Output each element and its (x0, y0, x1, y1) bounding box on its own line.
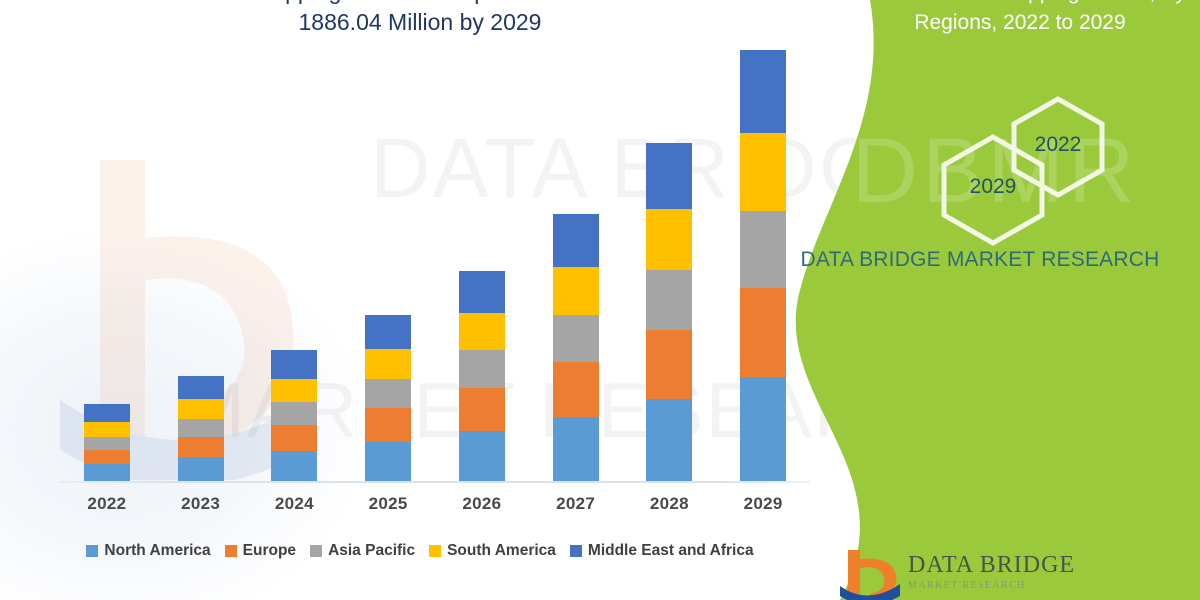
bar-segment[interactable] (178, 419, 224, 437)
bar-segment[interactable] (459, 431, 505, 481)
legend-label: North America (104, 542, 210, 560)
page-title: Global Cardiac Mapping Market is Expecte… (70, 0, 770, 38)
bar-segment[interactable] (365, 408, 411, 441)
bar-segment[interactable] (365, 379, 411, 408)
bar-segment[interactable] (178, 437, 224, 458)
stacked-bar[interactable] (553, 214, 599, 481)
legend-swatch (570, 545, 582, 557)
logo-text: DATA BRIDGE MARKET RESEARCH (908, 552, 1075, 591)
x-axis-labels: 20222023202420252026202720282029 (60, 487, 810, 521)
bar-segment[interactable] (646, 399, 692, 481)
stacked-bar[interactable] (459, 271, 505, 481)
bar-segment[interactable] (271, 451, 317, 481)
legend-label: Europe (243, 542, 296, 560)
green-panel-content: DBMR Global Cardiac Mapping Market, By R… (760, 0, 1200, 600)
stacked-bar-chart: 20222023202420252026202720282029 (40, 90, 820, 490)
bar-segment[interactable] (178, 457, 224, 481)
bar-segment[interactable] (646, 270, 692, 330)
bar-segment[interactable] (84, 422, 130, 437)
bar-segment[interactable] (646, 330, 692, 400)
bar-segment[interactable] (646, 209, 692, 270)
stacked-bar[interactable] (646, 143, 692, 481)
bar-segment[interactable] (553, 214, 599, 267)
bar-segment[interactable] (178, 376, 224, 400)
x-axis-tick-label: 2027 (536, 494, 616, 514)
hexagon-2022-label: 2022 (1008, 133, 1108, 157)
bar-column (629, 90, 709, 481)
bar-segment[interactable] (178, 399, 224, 419)
bar-column (348, 90, 428, 481)
bar-segment[interactable] (459, 388, 505, 431)
bar-segment[interactable] (271, 350, 317, 378)
legend-swatch (86, 545, 98, 557)
x-axis-tick-label: 2023 (161, 494, 241, 514)
bar-segment[interactable] (271, 402, 317, 425)
plot-area (60, 90, 810, 483)
bar-segment[interactable] (84, 404, 130, 422)
bar-segment[interactable] (271, 379, 317, 403)
panel-title: Global Cardiac Mapping Market, By Region… (850, 0, 1190, 38)
legend-item[interactable]: Middle East and Africa (570, 542, 754, 560)
brand-name: DATA BRIDGE MARKET RESEARCH (800, 245, 1160, 275)
data-bridge-logo: DATA BRIDGE MARKET RESEARCH (840, 550, 1190, 600)
bar-column (254, 90, 334, 481)
bar-segment[interactable] (84, 450, 130, 465)
x-axis-tick-label: 2022 (67, 494, 147, 514)
bar-segment[interactable] (459, 313, 505, 350)
x-axis-tick-label: 2028 (629, 494, 709, 514)
logo-name: DATA BRIDGE (908, 552, 1075, 579)
x-axis-line (60, 481, 810, 483)
bar-segment[interactable] (365, 349, 411, 378)
bar-segment[interactable] (84, 437, 130, 450)
bar-column (67, 90, 147, 481)
stacked-bar[interactable] (178, 376, 224, 481)
x-axis-tick-label: 2024 (254, 494, 334, 514)
bar-segment[interactable] (553, 267, 599, 315)
legend-swatch (310, 545, 322, 557)
bar-segment[interactable] (553, 315, 599, 362)
logo-tagline: MARKET RESEARCH (908, 580, 1075, 591)
bar-group (60, 90, 810, 481)
bar-segment[interactable] (271, 425, 317, 451)
bar-segment[interactable] (365, 315, 411, 349)
logo-mark-icon (840, 550, 900, 600)
bar-column (161, 90, 241, 481)
bar-segment[interactable] (553, 362, 599, 417)
hexagon-2022: 2022 (1008, 95, 1108, 199)
legend-label: South America (447, 542, 556, 560)
bar-segment[interactable] (459, 271, 505, 313)
stacked-bar[interactable] (365, 315, 411, 481)
bar-segment[interactable] (459, 350, 505, 387)
bar-segment[interactable] (553, 417, 599, 481)
legend-swatch (429, 545, 441, 557)
hexagon-group: 2029 2022 (910, 95, 1140, 240)
chart-legend: North AmericaEuropeAsia PacificSouth Ame… (40, 538, 800, 564)
legend-swatch (225, 545, 237, 557)
legend-label: Middle East and Africa (588, 542, 754, 560)
legend-item[interactable]: South America (429, 542, 556, 560)
legend-label: Asia Pacific (328, 542, 415, 560)
bar-segment[interactable] (365, 442, 411, 481)
legend-item[interactable]: Europe (225, 542, 296, 560)
bar-column (536, 90, 616, 481)
legend-item[interactable]: North America (86, 542, 210, 560)
stacked-bar[interactable] (271, 350, 317, 481)
bar-segment[interactable] (646, 143, 692, 209)
bar-segment[interactable] (84, 464, 130, 481)
bar-column (442, 90, 522, 481)
legend-item[interactable]: Asia Pacific (310, 542, 415, 560)
stacked-bar[interactable] (84, 404, 130, 481)
x-axis-tick-label: 2025 (348, 494, 428, 514)
x-axis-tick-label: 2026 (442, 494, 522, 514)
